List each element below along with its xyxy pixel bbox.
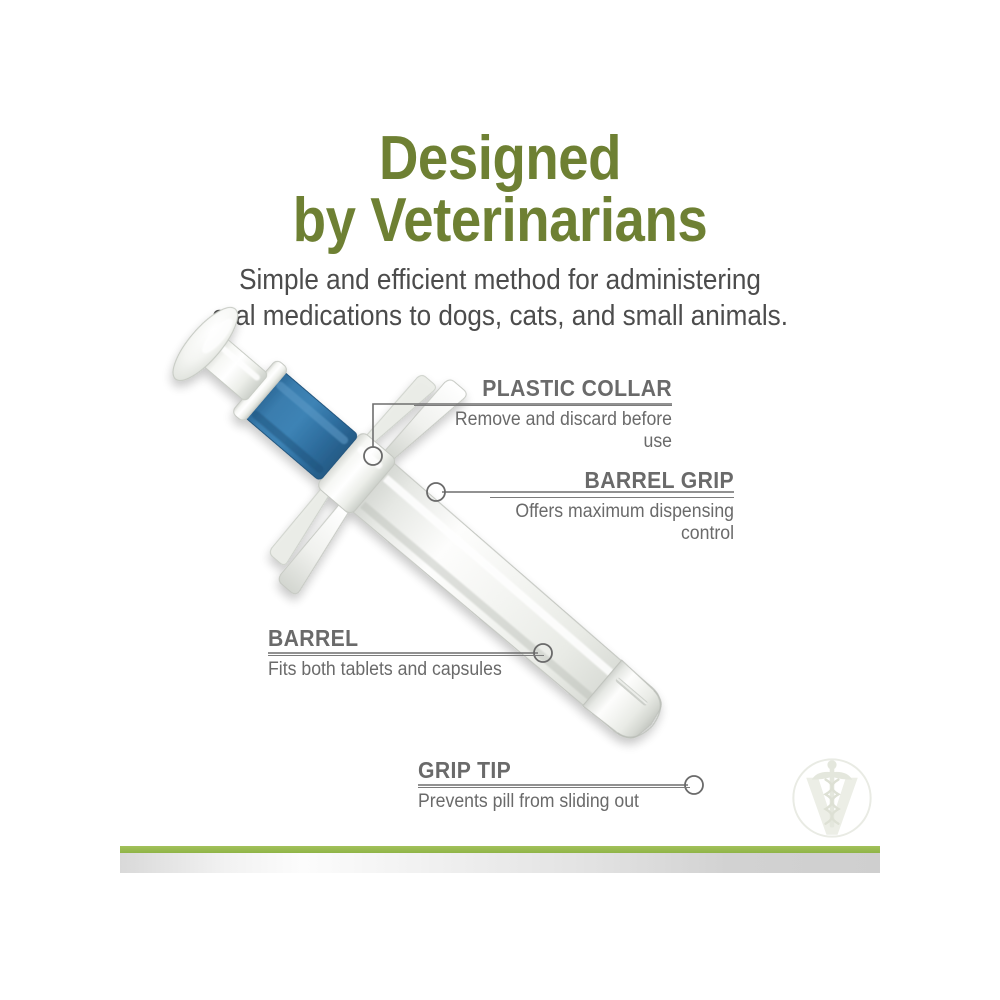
callout-rule-grip-tip	[418, 787, 690, 788]
callout-plastic-collar: PLASTIC COLLAR Remove and discard before…	[414, 376, 672, 453]
callout-description-barrel-grip: Offers maximum dispensing control	[507, 501, 734, 545]
callout-rule-plastic-collar	[414, 405, 672, 406]
callout-grip-tip: GRIP TIP Prevents pill from sliding out	[418, 758, 690, 813]
infographic-page: Designed by Veterinarians Simple and eff…	[0, 0, 1000, 1000]
veterinarian-caduceus-logo-icon	[786, 752, 878, 844]
callout-title-barrel-grip: BARREL GRIP	[510, 468, 734, 493]
callout-description-plastic-collar: Remove and discard before use	[432, 409, 672, 453]
callout-title-plastic-collar: PLASTIC COLLAR	[435, 376, 672, 401]
callout-description-grip-tip: Prevents pill from sliding out	[418, 791, 671, 813]
footer-accent-bar	[120, 846, 880, 853]
callout-title-barrel: BARREL	[268, 626, 522, 651]
callout-rule-barrel	[268, 655, 544, 656]
footer-strip	[120, 853, 880, 873]
callout-description-barrel: Fits both tablets and capsules	[268, 659, 525, 681]
callout-title-grip-tip: GRIP TIP	[418, 758, 668, 783]
callout-barrel: BARREL Fits both tablets and capsules	[268, 626, 544, 681]
callout-barrel-grip: BARREL GRIP Offers maximum dispensing co…	[490, 468, 734, 545]
callout-rule-barrel-grip	[490, 497, 734, 498]
